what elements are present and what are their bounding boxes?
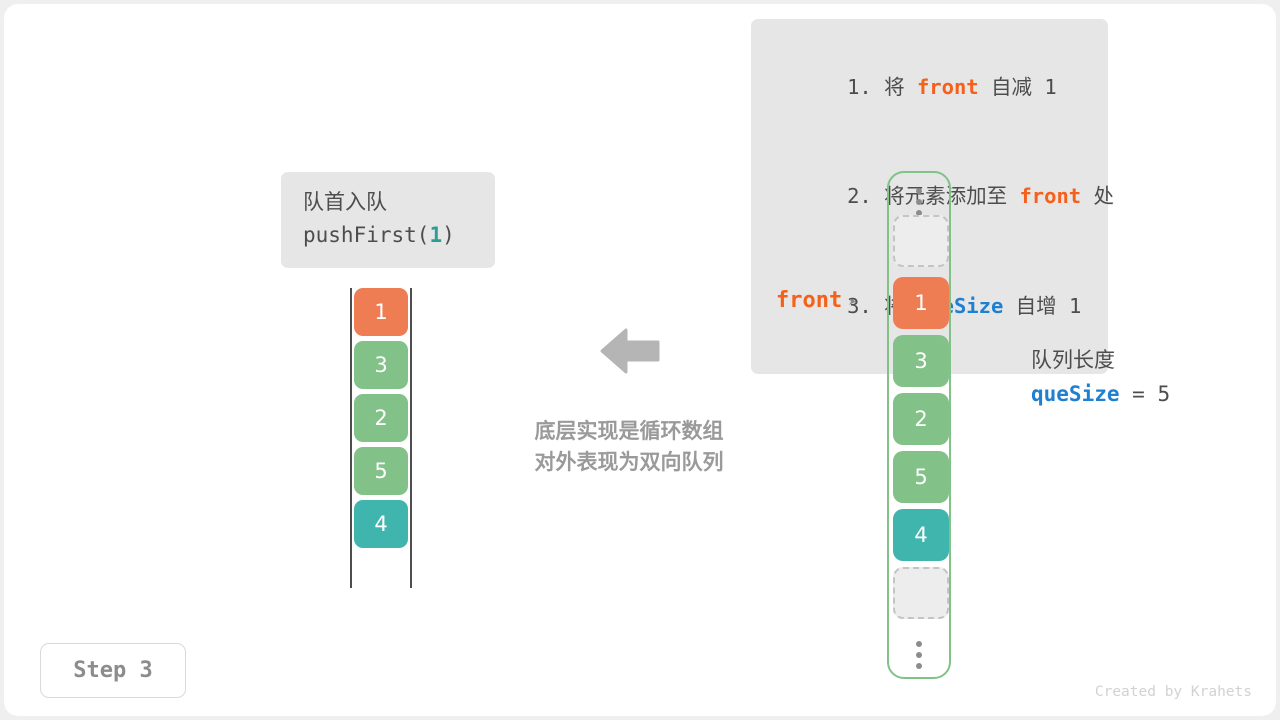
operation-call-suffix: ) — [442, 223, 455, 247]
step-line-1: 1. 将 front 自减 1 — [773, 32, 1086, 142]
quesize-var: queSize — [1031, 382, 1120, 406]
left-array-cell: 5 — [354, 447, 408, 495]
right-array-cell: 2 — [893, 393, 949, 445]
quesize-expression: queSize = 5 — [1031, 376, 1170, 412]
step-badge-label: Step 3 — [73, 658, 152, 683]
left-arrow-icon — [600, 326, 660, 376]
quesize-title: 队列长度 — [1031, 344, 1170, 376]
right-bracket-line — [410, 288, 412, 588]
step-1-keyword: front — [917, 75, 979, 99]
step-2-index: 2. — [847, 184, 872, 208]
quesize-value: 5 — [1157, 382, 1170, 406]
top-ellipsis-icon — [916, 188, 922, 216]
middle-caption: 底层实现是循环数组 对外表现为双向队列 — [504, 416, 754, 478]
step-1-post: 自减 1 — [979, 75, 1057, 99]
caption-line-1: 底层实现是循环数组 — [504, 416, 754, 447]
right-array-cell: 5 — [893, 451, 949, 503]
quesize-equals: = — [1120, 382, 1158, 406]
operation-label-box: 队首入队 pushFirst(1) — [281, 172, 495, 268]
step-1-index: 1. — [847, 75, 872, 99]
left-array-cell: 2 — [354, 394, 408, 442]
right-array-cell: 1 — [893, 277, 949, 329]
operation-title: 队首入队 — [303, 186, 473, 218]
step-badge: Step 3 — [40, 643, 186, 698]
right-array-cell: 4 — [893, 509, 949, 561]
step-2-post: 处 — [1081, 184, 1114, 208]
operation-call-arg: 1 — [429, 223, 442, 247]
left-array: 1 3 2 5 4 — [350, 288, 412, 588]
left-array-cell: 3 — [354, 341, 408, 389]
quesize-annotation: 队列长度 queSize = 5 — [1031, 344, 1170, 412]
operation-call-prefix: pushFirst( — [303, 223, 429, 247]
right-array-cell: 3 — [893, 335, 949, 387]
caption-line-2: 对外表现为双向队列 — [504, 447, 754, 478]
step-1-pre: 将 — [872, 75, 917, 99]
right-array-empty-slot — [893, 567, 949, 619]
front-pointer-label: front➤ — [776, 288, 857, 313]
operation-call: pushFirst(1) — [303, 218, 473, 252]
left-array-cell: 1 — [354, 288, 408, 336]
left-bracket-line — [350, 288, 352, 588]
front-pointer-arrow-icon: ➤ — [848, 293, 857, 311]
left-array-cell: 4 — [354, 500, 408, 548]
step-3-post: 自增 1 — [1003, 294, 1081, 318]
step-2-keyword: front — [1019, 184, 1081, 208]
right-array-empty-slot — [893, 215, 949, 267]
diagram-canvas: 1. 将 front 自减 1 2. 将元素添加至 front 处 3. 将 q… — [4, 4, 1276, 716]
front-pointer-text: front — [776, 288, 842, 313]
right-circular-array: 1 3 2 5 4 — [887, 171, 951, 679]
bottom-ellipsis-icon — [916, 641, 922, 669]
credit-text: Created by Krahets — [1095, 684, 1252, 700]
